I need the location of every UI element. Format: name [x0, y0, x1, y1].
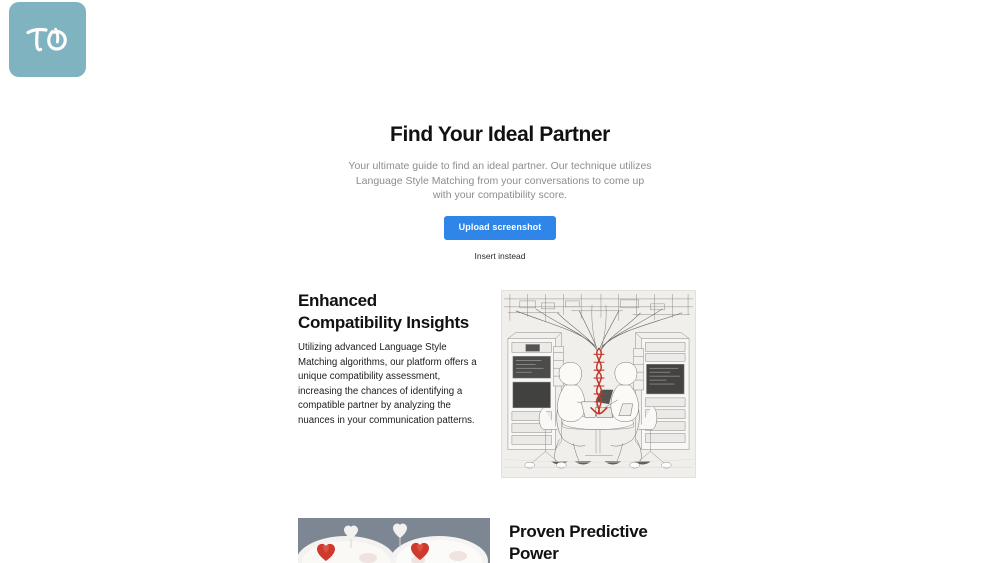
page-title: Find Your Ideal Partner [0, 122, 1000, 148]
upload-screenshot-button[interactable]: Upload screenshot [444, 216, 557, 240]
feature-body: Utilizing advanced Language Style Matchi… [298, 341, 484, 429]
hero-section: Find Your Ideal Partner Your ultimate gu… [0, 122, 1000, 261]
insert-instead-link[interactable]: Insert instead [0, 251, 1000, 261]
feature-title: Enhanced Compatibility Insights [298, 290, 484, 333]
photo-white-cakes-with-red-hearts-image [298, 518, 490, 563]
feature-row-predictive-power: Proven Predictive Power [298, 518, 700, 563]
feature-title: Proven Predictive Power [509, 521, 682, 563]
landing-page: Find Your Ideal Partner Your ultimate gu… [0, 0, 1000, 563]
feature-row-compatibility-insights: Enhanced Compatibility Insights Utilizin… [298, 290, 700, 478]
hero-actions: Upload screenshot Insert instead [0, 216, 1000, 261]
feature-copy: Proven Predictive Power [509, 518, 682, 563]
brand-logo[interactable] [9, 2, 86, 77]
feature-copy: Enhanced Compatibility Insights Utilizin… [298, 290, 484, 429]
hero-subtitle: Your ultimate guide to find an ideal par… [347, 159, 653, 203]
monogram-to-logo-icon [24, 23, 72, 57]
sketch-two-people-laptops-dna-helix-image [501, 290, 696, 478]
